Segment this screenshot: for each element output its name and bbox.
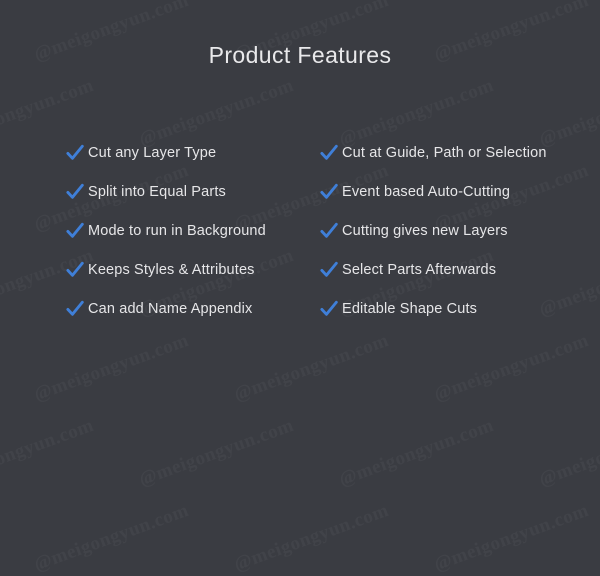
checkmark-icon [64,259,86,281]
watermark-text: @meigongyun.com [31,500,192,576]
watermark-text: @meigongyun.com [431,500,592,576]
feature-item: Keeps Styles & Attributes [64,250,266,289]
checkmark-icon [318,220,340,242]
watermark-text: @meigongyun.com [536,415,600,491]
feature-column-right: Cut at Guide, Path or SelectionEvent bas… [318,133,547,328]
feature-column-left: Cut any Layer TypeSplit into Equal Parts… [64,133,266,328]
feature-item: Event based Auto-Cutting [318,172,547,211]
feature-item: Editable Shape Cuts [318,289,547,328]
checkmark-icon [318,142,340,164]
page-title: Product Features [0,41,600,69]
product-features-slide: Product Features Cut any Layer TypeSplit… [0,0,600,400]
feature-item-label: Event based Auto-Cutting [342,183,510,201]
feature-item: Select Parts Afterwards [318,250,547,289]
feature-item: Cut at Guide, Path or Selection [318,133,547,172]
feature-item-label: Cutting gives new Layers [342,222,508,240]
feature-item-label: Editable Shape Cuts [342,300,477,318]
feature-item-label: Cut any Layer Type [88,144,216,162]
watermark-text: @meigongyun.com [231,500,392,576]
watermark-text: @meigongyun.com [136,415,297,491]
checkmark-icon [64,181,86,203]
checkmark-icon [318,181,340,203]
feature-item: Mode to run in Background [64,211,266,250]
feature-item-label: Cut at Guide, Path or Selection [342,144,547,162]
checkmark-icon [318,259,340,281]
checkmark-icon [64,142,86,164]
feature-item-label: Split into Equal Parts [88,183,226,201]
feature-item-label: Select Parts Afterwards [342,261,496,279]
feature-item: Split into Equal Parts [64,172,266,211]
feature-item: Cutting gives new Layers [318,211,547,250]
feature-item-label: Keeps Styles & Attributes [88,261,255,279]
checkmark-icon [318,298,340,320]
checkmark-icon [64,220,86,242]
feature-item: Cut any Layer Type [64,133,266,172]
watermark-text: @meigongyun.com [336,415,497,491]
watermark-text: @meigongyun.com [0,415,97,491]
feature-item-label: Can add Name Appendix [88,300,252,318]
feature-item: Can add Name Appendix [64,289,266,328]
feature-item-label: Mode to run in Background [88,222,266,240]
checkmark-icon [64,298,86,320]
